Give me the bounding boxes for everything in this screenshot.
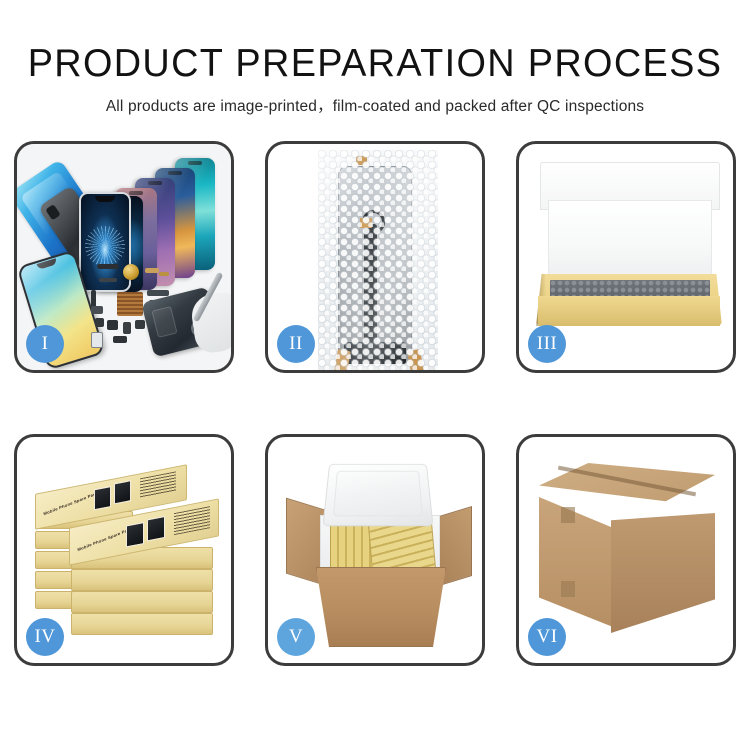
page-subtitle: All products are image-printed，film-coat… xyxy=(0,86,750,117)
sealed-carton-icon xyxy=(539,463,715,637)
step-panel-5[interactable]: V xyxy=(265,434,485,666)
box-screen-graphic xyxy=(126,522,144,547)
box-screen-graphic xyxy=(147,516,165,541)
tape-icon xyxy=(561,581,575,597)
step-panel-2[interactable]: II xyxy=(265,141,485,373)
page-title: PRODUCT PREPARATION PROCESS xyxy=(11,0,739,86)
header: PRODUCT PREPARATION PROCESS All products… xyxy=(0,0,750,117)
box-label-text: Mobile Phone Spare Parts xyxy=(43,490,99,516)
box-label-text: Mobile Phone Spare Parts xyxy=(77,526,133,552)
small-component-icon xyxy=(135,320,145,329)
process-steps-grid: I II xyxy=(14,141,736,697)
small-component-icon xyxy=(107,320,118,330)
open-carton-icon xyxy=(286,461,472,647)
step-panel-4[interactable]: Mobile Phone Spare Parts Mobile Phone Sp… xyxy=(14,434,234,666)
step-badge-2: II xyxy=(277,325,315,363)
gold-connector-icon xyxy=(159,272,169,276)
flex-cable-icon xyxy=(147,290,169,296)
small-component-icon xyxy=(95,318,104,327)
retail-box-stack-icon: Mobile Phone Spare Parts Mobile Phone Sp… xyxy=(33,455,223,655)
vibration-motor-icon xyxy=(123,264,139,280)
white-foam-sheet-icon xyxy=(548,200,712,286)
foam-lid-icon xyxy=(322,464,433,526)
inner-box-open-icon xyxy=(534,162,724,338)
box-spec-lines xyxy=(174,506,210,535)
step-badge-4: IV xyxy=(26,618,64,656)
box-screen-graphic xyxy=(114,480,131,504)
carton-left-face xyxy=(539,493,613,627)
chip-board-icon xyxy=(117,292,143,316)
tape-icon xyxy=(561,507,575,523)
step-badge-5: V xyxy=(277,618,315,656)
step-badge-6: VI xyxy=(528,618,566,656)
small-component-icon xyxy=(113,336,127,343)
carton-right-face xyxy=(611,513,715,633)
speaker-mesh-icon xyxy=(97,264,119,269)
box-front-panel-icon xyxy=(538,296,720,326)
small-component-icon xyxy=(123,322,131,334)
step-panel-1[interactable]: I xyxy=(14,141,234,373)
sim-tray-icon xyxy=(91,332,103,348)
step-badge-1: I xyxy=(26,325,64,363)
box-screen-graphic xyxy=(94,486,111,510)
plastic-sheen xyxy=(318,150,438,370)
step-panel-3[interactable]: III xyxy=(516,141,736,373)
antenna-strip-icon xyxy=(99,278,117,282)
step-badge-3: III xyxy=(528,325,566,363)
step-panel-6[interactable]: VI xyxy=(516,434,736,666)
gold-connector-icon xyxy=(145,268,159,273)
camera-module-icon xyxy=(91,306,103,314)
box-spec-lines xyxy=(140,471,176,498)
product-preparation-page: PRODUCT PREPARATION PROCESS All products… xyxy=(0,0,750,750)
bubble-wrap-bag-icon xyxy=(318,150,438,370)
carton-body-icon xyxy=(316,567,446,647)
